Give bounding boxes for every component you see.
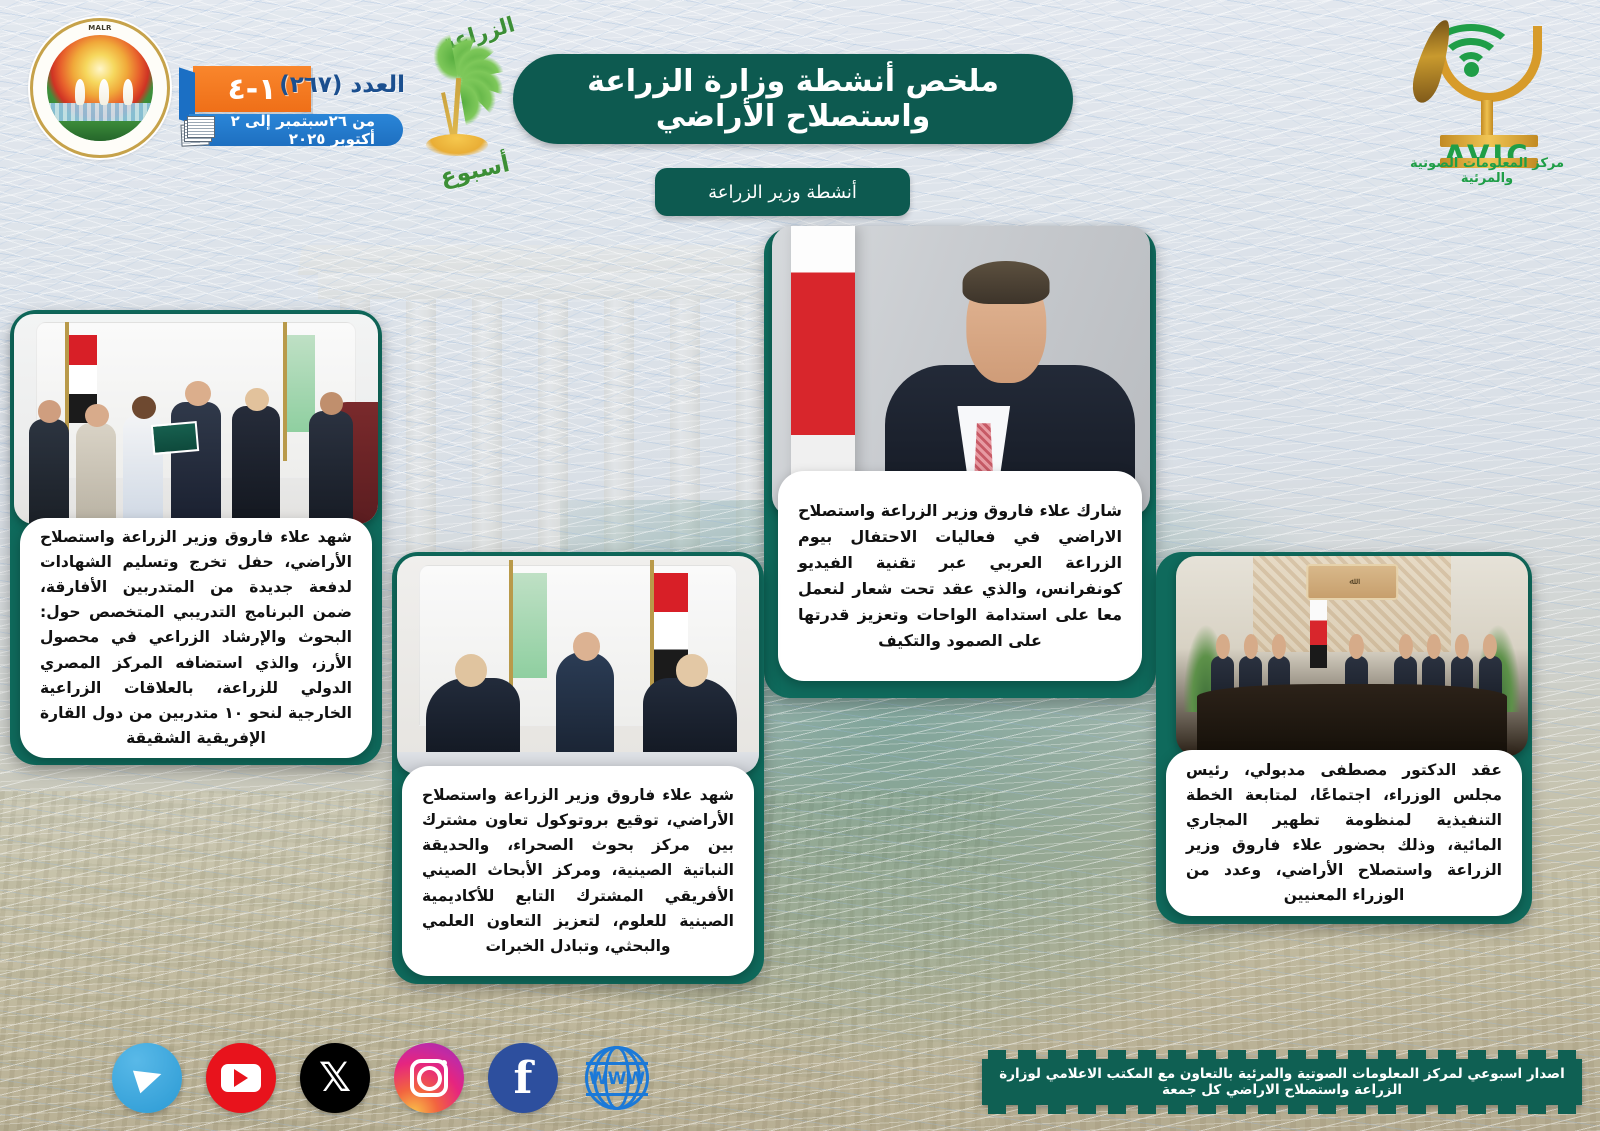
malr-ministry-seal: MALR [30,18,170,158]
card-cabinet-meeting[interactable]: ﷲ عقد الدكتور مصطفى مدبولي، رئيس مجلس ال… [1156,552,1532,924]
footer-banner: اصدار اسبوعي لمركز المعلومات الصوتية وال… [982,1059,1582,1105]
x-twitter-link[interactable]: 𝕏 [300,1043,370,1113]
card-arab-agriculture-day[interactable]: شارك علاء فاروق وزير الزراعة واستصلاح ال… [764,228,1156,698]
social-links-row: WWW f 𝕏 [112,1043,652,1113]
photo-graduation-ceremony [14,314,378,524]
issue-badge-block: ١-٤ العدد (٢٦٧) من ٢٦سبتمبر إلى ٢ أكتوبر… [175,58,405,158]
allah-calligraphy-plaque: ﷲ [1306,564,1398,600]
website-link[interactable]: WWW [582,1043,652,1113]
page-title: ملخص أنشطة وزارة الزراعة واستصلاح الأراض… [513,54,1073,144]
telegram-icon [133,1063,165,1094]
card-protocol-signing[interactable]: شهد علاء فاروق وزير الزراعة واستصلاح الأ… [392,552,764,984]
agriculture-week-logo: الزراعة أسبوع [398,22,518,182]
card-graduation-text: شهد علاء فاروق وزير الزراعة واستصلاح الأ… [20,518,372,758]
globe-icon: WWW [582,1043,652,1113]
card-graduation[interactable]: شهد علاء فاروق وزير الزراعة واستصلاح الأ… [10,310,382,765]
card-cabinet-meeting-text: عقد الدكتور مصطفى مدبولي، رئيس مجلس الوز… [1166,750,1522,916]
issue-date-range: من ٢٦سبتمبر إلى ٢ أكتوبر ٢٠٢٥ [189,114,403,146]
card-arab-agriculture-day-text: شارك علاء فاروق وزير الزراعة واستصلاح ال… [778,471,1142,681]
facebook-link[interactable]: f [488,1043,558,1113]
facebook-icon: f [514,1053,533,1104]
youtube-link[interactable] [206,1043,276,1113]
website-label: WWW [582,1069,652,1089]
issue-number-label: العدد (٢٦٧) [279,72,405,98]
poster-canvas: MALR ١-٤ العدد (٢٦٧) من ٢٦سبتمبر إلى ٢ أ… [0,0,1600,1131]
x-icon: 𝕏 [319,1055,351,1101]
telegram-link[interactable] [112,1043,182,1113]
photo-protocol-signing [397,556,759,774]
avic-arabic-label: مركز المعلومات الصوتية والمرئية [1392,156,1582,186]
avic-logo: AVIC مركز المعلومات الصوتية والمرئية [1392,8,1582,183]
card-protocol-signing-text: شهد علاء فاروق وزير الزراعة واستصلاح الأ… [402,766,754,976]
seal-top-label: MALR [30,24,170,32]
section-subtitle: أنشطة وزير الزراعة [655,168,910,216]
calendar-pages-icon [181,116,217,148]
instagram-link[interactable] [394,1043,464,1113]
youtube-icon [221,1064,261,1092]
photo-cabinet-meeting: ﷲ [1176,556,1528,756]
